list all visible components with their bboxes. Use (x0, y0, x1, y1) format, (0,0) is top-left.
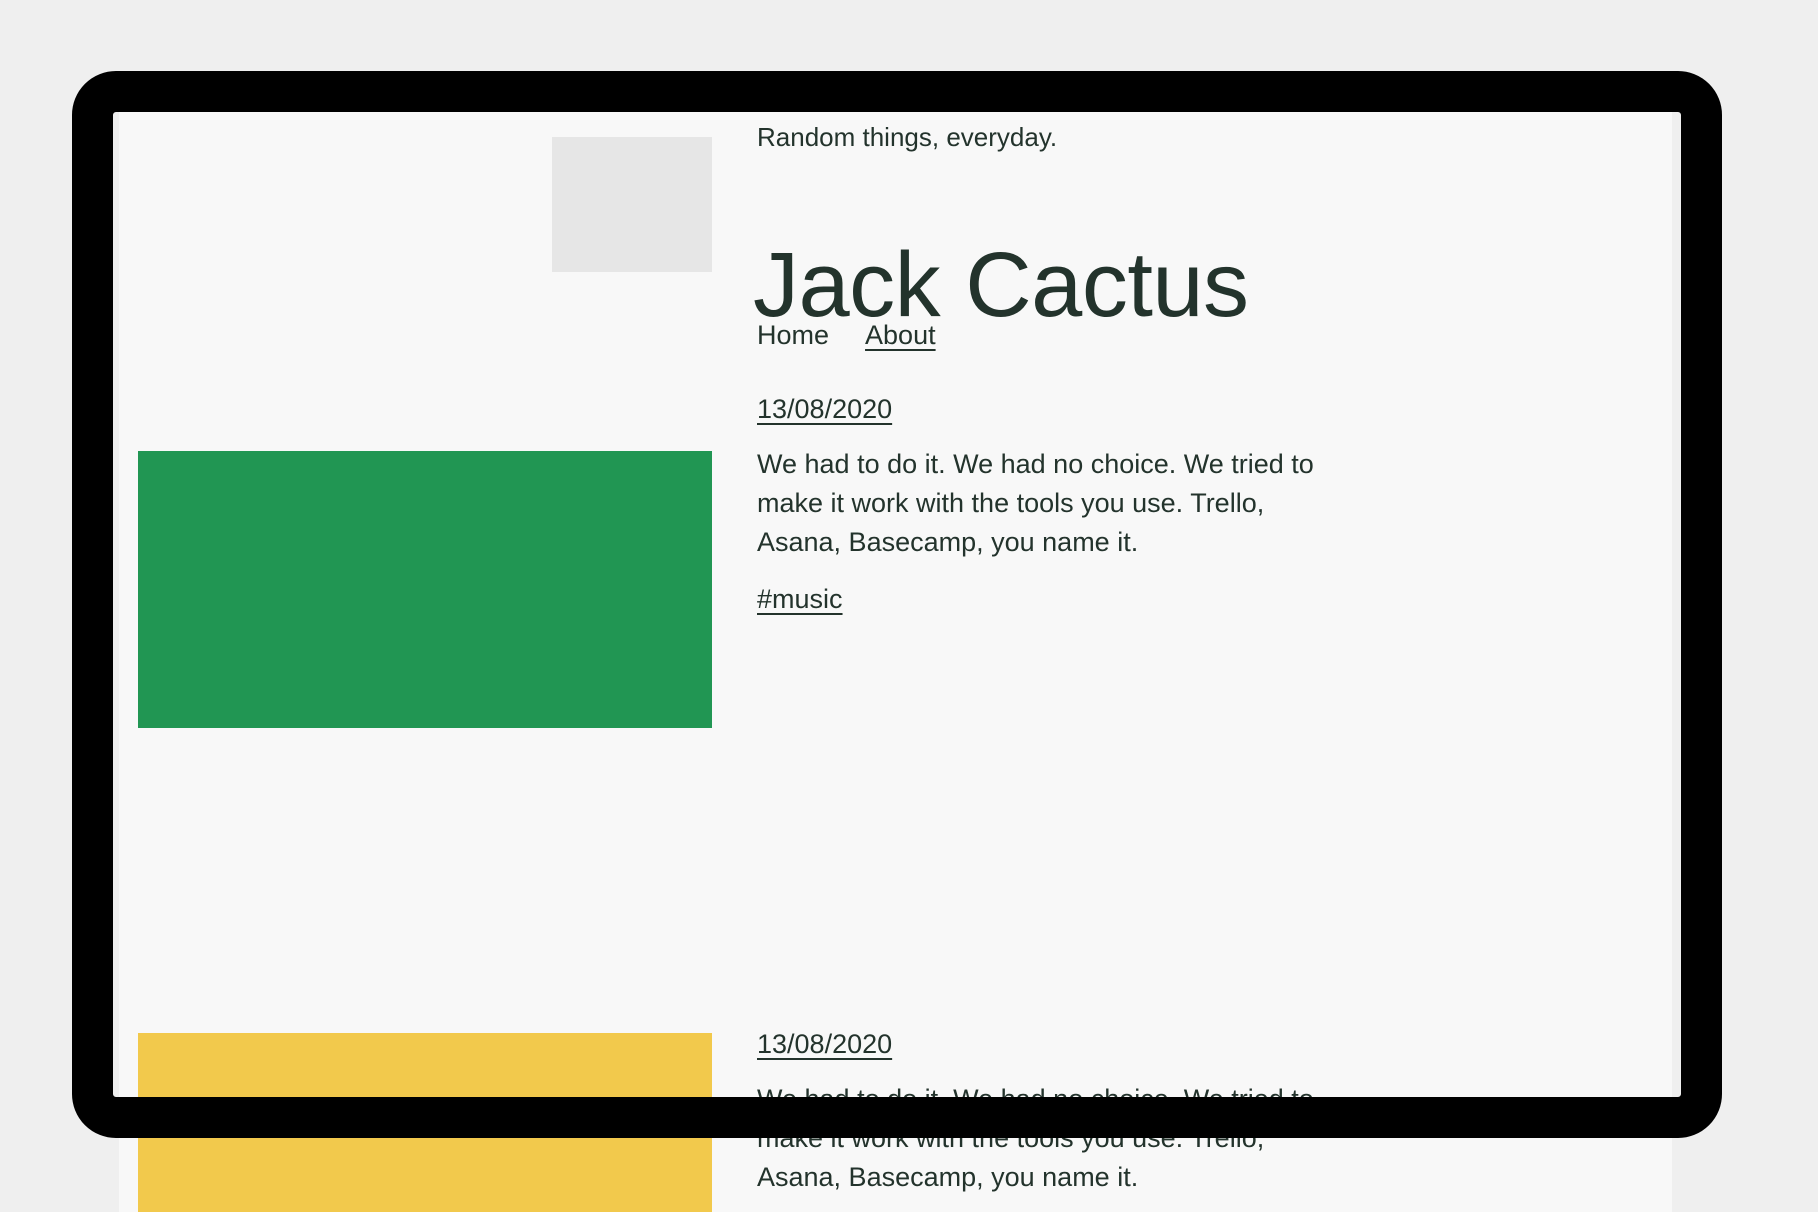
post-text: We had to do it. We had no choice. We tr… (757, 1080, 1317, 1197)
nav-item-about[interactable]: About (865, 320, 936, 350)
post-text: We had to do it. We had no choice. We tr… (757, 445, 1317, 562)
site-tagline: Random things, everyday. (757, 121, 1057, 155)
website-viewport: Random things, everyday. Jack Cactus Hom… (119, 112, 1672, 1212)
site-header: Random things, everyday. Jack Cactus Hom… (119, 112, 1672, 390)
logo-placeholder (552, 137, 712, 272)
post-thumbnail[interactable] (138, 451, 712, 728)
mockup-stage: Random things, everyday. Jack Cactus Hom… (0, 0, 1818, 1212)
post-tag-link[interactable]: #music (757, 583, 843, 617)
website-content: Random things, everyday. Jack Cactus Hom… (119, 112, 1672, 1212)
post-date-link[interactable]: 13/08/2020 (757, 1028, 892, 1062)
post-date-link[interactable]: 13/08/2020 (757, 393, 892, 427)
main-nav: HomeAbout (757, 320, 936, 351)
post-entry: 13/08/2020 We had to do it. We had no ch… (757, 1028, 1377, 1212)
nav-item-home[interactable]: Home (757, 320, 829, 350)
post-thumbnail[interactable] (138, 1033, 712, 1212)
post-entry: 13/08/2020 We had to do it. We had no ch… (757, 393, 1377, 617)
